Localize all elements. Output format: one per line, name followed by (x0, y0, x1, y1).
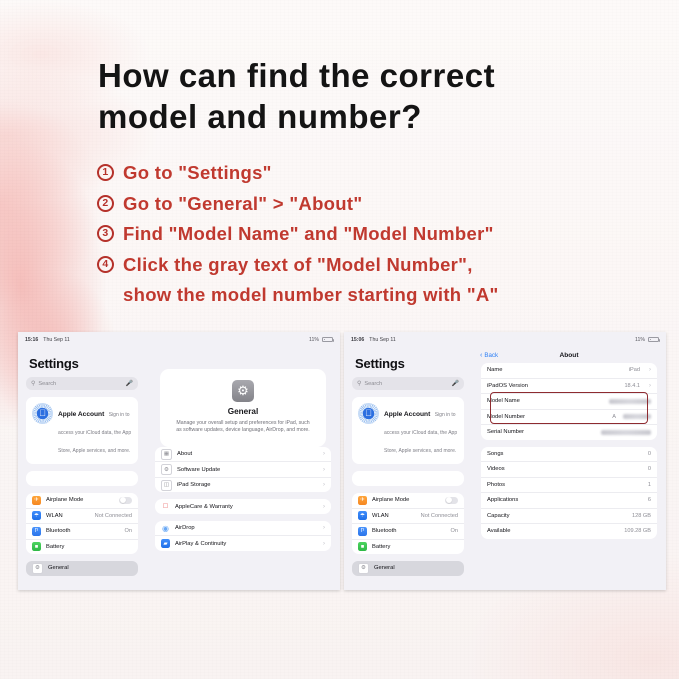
general-hero-card: ⚙ General Manage your overall setup and … (160, 369, 326, 447)
about-row-label: Songs (487, 451, 643, 457)
airplane-mode-toggle[interactable] (119, 497, 132, 505)
general-group-2:  AppleCare & Warranty › (155, 499, 331, 514)
general-options-list: ▦ About › ⚙ Software Update › ◫ iPad Sto… (155, 447, 331, 551)
sidebar-item-value: Not Connected (421, 513, 458, 519)
back-button-label: Back (484, 352, 498, 359)
about-row-value-redacted (601, 430, 651, 435)
battery-icon (648, 337, 659, 343)
about-row-videos: Videos 0 (481, 462, 657, 478)
general-item-label: Software Update (177, 467, 314, 473)
about-row-label: Available (487, 528, 619, 534)
apple-account-desc: Sign in to access your iCloud data, the … (384, 412, 457, 454)
about-row-label: Model Name (487, 398, 604, 404)
search-placeholder: Search (364, 381, 448, 387)
status-time: 15:16 (25, 337, 38, 343)
sidebar-item-label: Battery (46, 544, 132, 550)
about-row-model-name[interactable]: Model Name (481, 394, 657, 410)
about-row-value-redacted (609, 399, 651, 404)
general-item-applecare[interactable]:  AppleCare & Warranty › (155, 499, 331, 514)
sidebar-item-general[interactable]: ⚙ General (26, 561, 138, 576)
apple-account-desc: Sign in to access your iCloud data, the … (58, 412, 131, 454)
avatar:  (358, 403, 379, 424)
page-title: How can find the correct model and numbe… (98, 55, 618, 137)
sidebar-item-label: Airplane Mode (372, 497, 440, 503)
split-view-right: Settings ⚲ Search 🎤  Apple Account Sign… (344, 347, 666, 590)
storage-icon: ◫ (161, 480, 172, 491)
search-input[interactable]: ⚲ Search 🎤 (26, 377, 138, 390)
about-icon: ▦ (161, 449, 172, 460)
about-row-applications: Applications 6 (481, 493, 657, 509)
sidebar-item-label: WLAN (46, 513, 90, 519)
general-detail-pane: ⚙ General Manage your overall setup and … (146, 347, 340, 590)
screenshot-general-settings: 15:16 Thu Sep 11 11% Settings ⚲ Search 🎤… (18, 332, 340, 590)
sidebar-item-wlan[interactable]: ☂ WLAN Not Connected (352, 509, 464, 525)
status-bar-right: 15:06 Thu Sep 11 11% (344, 332, 666, 347)
step-item-2: 2 Go to "General" > "About" (97, 189, 627, 220)
microphone-icon[interactable]: 🎤 (452, 380, 459, 387)
microphone-icon[interactable]: 🎤 (126, 380, 133, 387)
step-number-3: 3 (97, 225, 114, 242)
general-item-airdrop[interactable]: ◉ AirDrop › (155, 521, 331, 537)
about-row-label: Name (487, 367, 624, 373)
about-row-label: iPadOS Version (487, 383, 619, 389)
step-number-1: 1 (97, 164, 114, 181)
headline-line-1: How can find the correct (98, 57, 495, 94)
apple-account-name: Apple Account (58, 411, 104, 418)
step-text-4: Click the gray text of "Model Number", (123, 250, 473, 281)
about-row-value-redacted (623, 414, 651, 419)
sidebar-item-label: General (374, 565, 395, 571)
sidebar-connectivity-group: ✈ Airplane Mode ☂ WLAN Not Connected 𐌐 B… (26, 493, 138, 554)
gear-icon: ⚙ (358, 563, 369, 574)
about-row-serial-number[interactable]: Serial Number (481, 425, 657, 440)
airplay-icon: ▰ (161, 539, 170, 548)
about-row-label: Videos (487, 466, 643, 472)
battery-icon: ■ (358, 542, 367, 551)
screenshot-about-page: 15:06 Thu Sep 11 11% Settings ⚲ Search 🎤… (344, 332, 666, 590)
general-group-1: ▦ About › ⚙ Software Update › ◫ iPad Sto… (155, 447, 331, 493)
about-row-value: 109.28 GB (624, 528, 651, 534)
step-text-4-continuation: show the model number starting with "A" (123, 280, 499, 311)
about-row-available: Available 109.28 GB (481, 524, 657, 539)
battery-icon (322, 337, 333, 343)
step-text-2: Go to "General" > "About" (123, 189, 362, 220)
settings-sidebar-left: Settings ⚲ Search 🎤  Apple Account Sign… (18, 347, 146, 590)
chevron-right-icon: › (649, 367, 651, 373)
step-number-2: 2 (97, 195, 114, 212)
split-view-left: Settings ⚲ Search 🎤  Apple Account Sign… (18, 347, 340, 590)
general-group-3: ◉ AirDrop › ▰ AirPlay & Continuity › (155, 521, 331, 551)
search-icon: ⚲ (357, 380, 361, 387)
settings-sidebar-right: Settings ⚲ Search 🎤  Apple Account Sign… (344, 347, 472, 590)
apple-account-card[interactable]:  Apple Account Sign in to access your i… (26, 397, 138, 464)
about-row-value: 128 GB (632, 513, 651, 519)
chevron-right-icon: › (649, 383, 651, 389)
chevron-right-icon: › (323, 504, 325, 510)
sidebar-blank-card (352, 471, 464, 486)
bluetooth-icon: 𐌐 (32, 527, 41, 536)
sidebar-item-battery[interactable]: ■ Battery (26, 540, 138, 555)
gear-icon: ⚙ (32, 563, 43, 574)
about-group-storage: Songs 0 Videos 0 Photos 1 Applications (481, 447, 657, 539)
about-row-capacity: Capacity 128 GB (481, 509, 657, 525)
general-item-about[interactable]: ▦ About › (155, 447, 331, 463)
sidebar-item-value: On (451, 528, 458, 534)
sidebar-connectivity-group: ✈ Airplane Mode ☂ WLAN Not Connected 𐌐 B… (352, 493, 464, 554)
general-item-label: About (177, 451, 314, 457)
apple-account-card[interactable]:  Apple Account Sign in to access your i… (352, 397, 464, 464)
sidebar-item-label: Airplane Mode (46, 497, 114, 503)
status-bar-left: 15:16 Thu Sep 11 11% (18, 332, 340, 347)
about-row-value: A (612, 414, 616, 420)
airplane-icon: ✈ (358, 496, 367, 505)
about-info-list: Name iPad › iPadOS Version 18.4.1 › Mode… (481, 363, 657, 539)
battery-icon: ■ (32, 542, 41, 551)
sidebar-item-wlan[interactable]: ☂ WLAN Not Connected (26, 509, 138, 525)
step-text-1: Go to "Settings" (123, 158, 272, 189)
about-row-value: 18.4.1 (624, 383, 640, 389)
sidebar-item-label: Bluetooth (46, 528, 120, 534)
sidebar-item-airplane-mode[interactable]: ✈ Airplane Mode (26, 493, 138, 509)
about-row-ipados-version[interactable]: iPadOS Version 18.4.1 › (481, 379, 657, 395)
airplane-icon: ✈ (32, 496, 41, 505)
chevron-left-icon: ‹ (480, 352, 482, 359)
about-page-title: About (472, 352, 666, 359)
about-row-label: Applications (487, 497, 643, 503)
search-placeholder: Search (38, 381, 122, 387)
sidebar-item-label: WLAN (372, 513, 416, 519)
chevron-right-icon: › (323, 541, 325, 547)
about-row-label: Serial Number (487, 429, 596, 435)
sidebar-item-bluetooth[interactable]: 𐌐 Bluetooth On (352, 524, 464, 540)
bluetooth-icon: 𐌐 (358, 527, 367, 536)
sidebar-item-airplane-mode[interactable]: ✈ Airplane Mode (352, 493, 464, 509)
about-row-value: iPad (629, 367, 640, 373)
sidebar-item-battery[interactable]: ■ Battery (352, 540, 464, 555)
step-number-4: 4 (97, 256, 114, 273)
battery-percent: 11% (635, 337, 645, 343)
sidebar-item-bluetooth[interactable]: 𐌐 Bluetooth On (26, 524, 138, 540)
wifi-icon: ☂ (32, 511, 41, 520)
chevron-right-icon: › (323, 451, 325, 457)
headline-line-2: model and number? (98, 96, 618, 137)
general-item-label: iPad Storage (177, 482, 314, 488)
steps-list: 1 Go to "Settings" 2 Go to "General" > "… (97, 158, 627, 311)
about-row-songs: Songs 0 (481, 447, 657, 463)
software-update-icon: ⚙ (161, 464, 172, 475)
search-icon: ⚲ (31, 380, 35, 387)
general-hero-description: Manage your overall setup and preference… (170, 420, 316, 435)
sidebar-item-general[interactable]: ⚙ General (352, 561, 464, 576)
status-date: Thu Sep 11 (43, 337, 69, 343)
about-row-value: 0 (648, 451, 651, 457)
sidebar-item-value: Not Connected (95, 513, 132, 519)
about-row-photos: Photos 1 (481, 478, 657, 494)
about-row-name[interactable]: Name iPad › (481, 363, 657, 379)
chevron-right-icon: › (323, 482, 325, 488)
step-item-3: 3 Find "Model Name" and "Model Number" (97, 219, 627, 250)
gear-icon: ⚙ (232, 380, 254, 402)
general-item-label: AppleCare & Warranty (175, 504, 314, 510)
status-time: 15:06 (351, 337, 364, 343)
airplane-mode-toggle[interactable] (445, 497, 458, 505)
back-button[interactable]: ‹ Back (480, 352, 498, 359)
wifi-icon: ☂ (358, 511, 367, 520)
sidebar-item-label: General (48, 565, 69, 571)
avatar:  (32, 403, 53, 424)
about-detail-pane: ‹ Back About Name iPad › iPadOS Version (472, 347, 666, 590)
search-input[interactable]: ⚲ Search 🎤 (352, 377, 464, 390)
general-item-label: AirDrop (175, 525, 314, 531)
step-text-3: Find "Model Name" and "Model Number" (123, 219, 494, 250)
about-row-label: Capacity (487, 513, 627, 519)
step-item-4: 4 Click the gray text of "Model Number", (97, 250, 627, 281)
sidebar-item-label: Bluetooth (372, 528, 446, 534)
general-item-software-update[interactable]: ⚙ Software Update › (155, 462, 331, 478)
settings-title: Settings (29, 356, 138, 371)
about-row-label: Model Number (487, 414, 607, 420)
sidebar-item-label: Battery (372, 544, 458, 550)
apple-icon:  (161, 502, 170, 511)
general-hero-title: General (170, 407, 316, 416)
airdrop-icon: ◉ (161, 524, 170, 533)
about-row-label: Photos (487, 482, 643, 488)
step-item-4-continuation: show the model number starting with "A" (97, 280, 627, 311)
general-item-label: AirPlay & Continuity (175, 541, 314, 547)
chevron-right-icon: › (323, 467, 325, 473)
battery-percent: 11% (309, 337, 319, 343)
sidebar-blank-card (26, 471, 138, 486)
apple-account-name: Apple Account (384, 411, 430, 418)
status-date: Thu Sep 11 (369, 337, 395, 343)
about-navbar: ‹ Back About (472, 347, 666, 363)
about-row-value: 0 (648, 466, 651, 472)
about-row-model-number[interactable]: Model Number A (481, 410, 657, 426)
apple-account-text: Apple Account Sign in to access your iCl… (384, 403, 458, 457)
poster-root: How can find the correct model and numbe… (0, 0, 679, 679)
settings-title: Settings (355, 356, 464, 371)
about-row-value: 1 (648, 482, 651, 488)
chevron-right-icon: › (323, 525, 325, 531)
step-item-1: 1 Go to "Settings" (97, 158, 627, 189)
apple-account-text: Apple Account Sign in to access your iCl… (58, 403, 132, 457)
about-row-value: 6 (648, 497, 651, 503)
about-group-identity: Name iPad › iPadOS Version 18.4.1 › Mode… (481, 363, 657, 440)
general-item-airplay[interactable]: ▰ AirPlay & Continuity › (155, 536, 331, 551)
general-item-ipad-storage[interactable]: ◫ iPad Storage › (155, 478, 331, 493)
sidebar-item-value: On (125, 528, 132, 534)
